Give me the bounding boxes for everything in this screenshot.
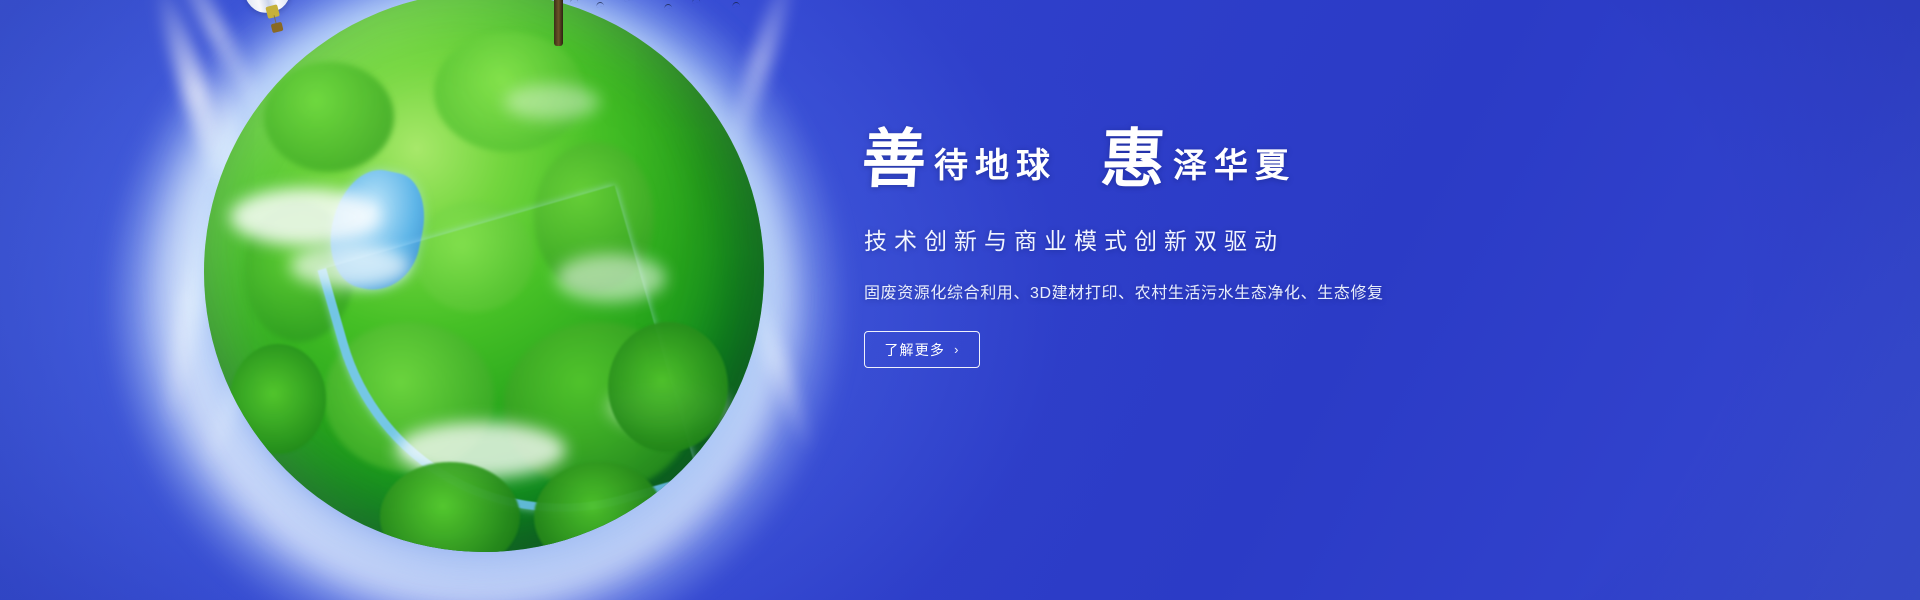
hero-description: 固废资源化综合利用、3D建材打印、农村生活污水生态净化、生态修复	[864, 279, 1562, 303]
headline-char-2: 惠	[1099, 128, 1166, 192]
forest-blob	[264, 62, 394, 172]
balloon-tip	[265, 4, 280, 19]
hero-subtitle: 技术创新与商业模式创新双驱动	[864, 222, 1562, 256]
rim-tree	[608, 322, 728, 452]
chevron-right-icon: ›	[954, 343, 960, 356]
planet-sphere	[204, 0, 764, 552]
bird-flock-icon	[566, 0, 756, 28]
cloud-patch-icon	[290, 244, 410, 288]
hero-content: 善 待地球 惠 泽华夏 技术创新与商业模式创新双驱动 固废资源化综合利用、3D建…	[862, 128, 1562, 368]
hero-banner: 善 待地球 惠 泽华夏 技术创新与商业模式创新双驱动 固废资源化综合利用、3D建…	[0, 0, 1920, 600]
tree-trunk	[554, 0, 563, 46]
headline-rest-2: 泽华夏	[1173, 150, 1296, 184]
cloud-patch-icon	[556, 254, 666, 302]
bird-icon	[570, 0, 579, 4]
rim-tree	[230, 344, 326, 454]
headline-char-1: 善	[860, 128, 927, 192]
learn-more-button[interactable]: 了解更多 ›	[864, 331, 980, 368]
learn-more-label: 了解更多	[884, 340, 945, 360]
balloon-basket	[271, 22, 284, 33]
cloud-patch-icon	[230, 188, 380, 246]
globe-illustration	[96, 0, 856, 600]
bird-icon	[624, 0, 633, 2]
hero-headline: 善 待地球 惠 泽华夏	[862, 128, 1562, 192]
bird-icon	[664, 3, 673, 9]
headline-rest-1: 待地球	[934, 150, 1057, 184]
bird-icon	[732, 1, 741, 7]
bird-icon	[596, 1, 605, 7]
cloud-patch-icon	[504, 84, 600, 120]
bird-icon	[692, 0, 701, 4]
